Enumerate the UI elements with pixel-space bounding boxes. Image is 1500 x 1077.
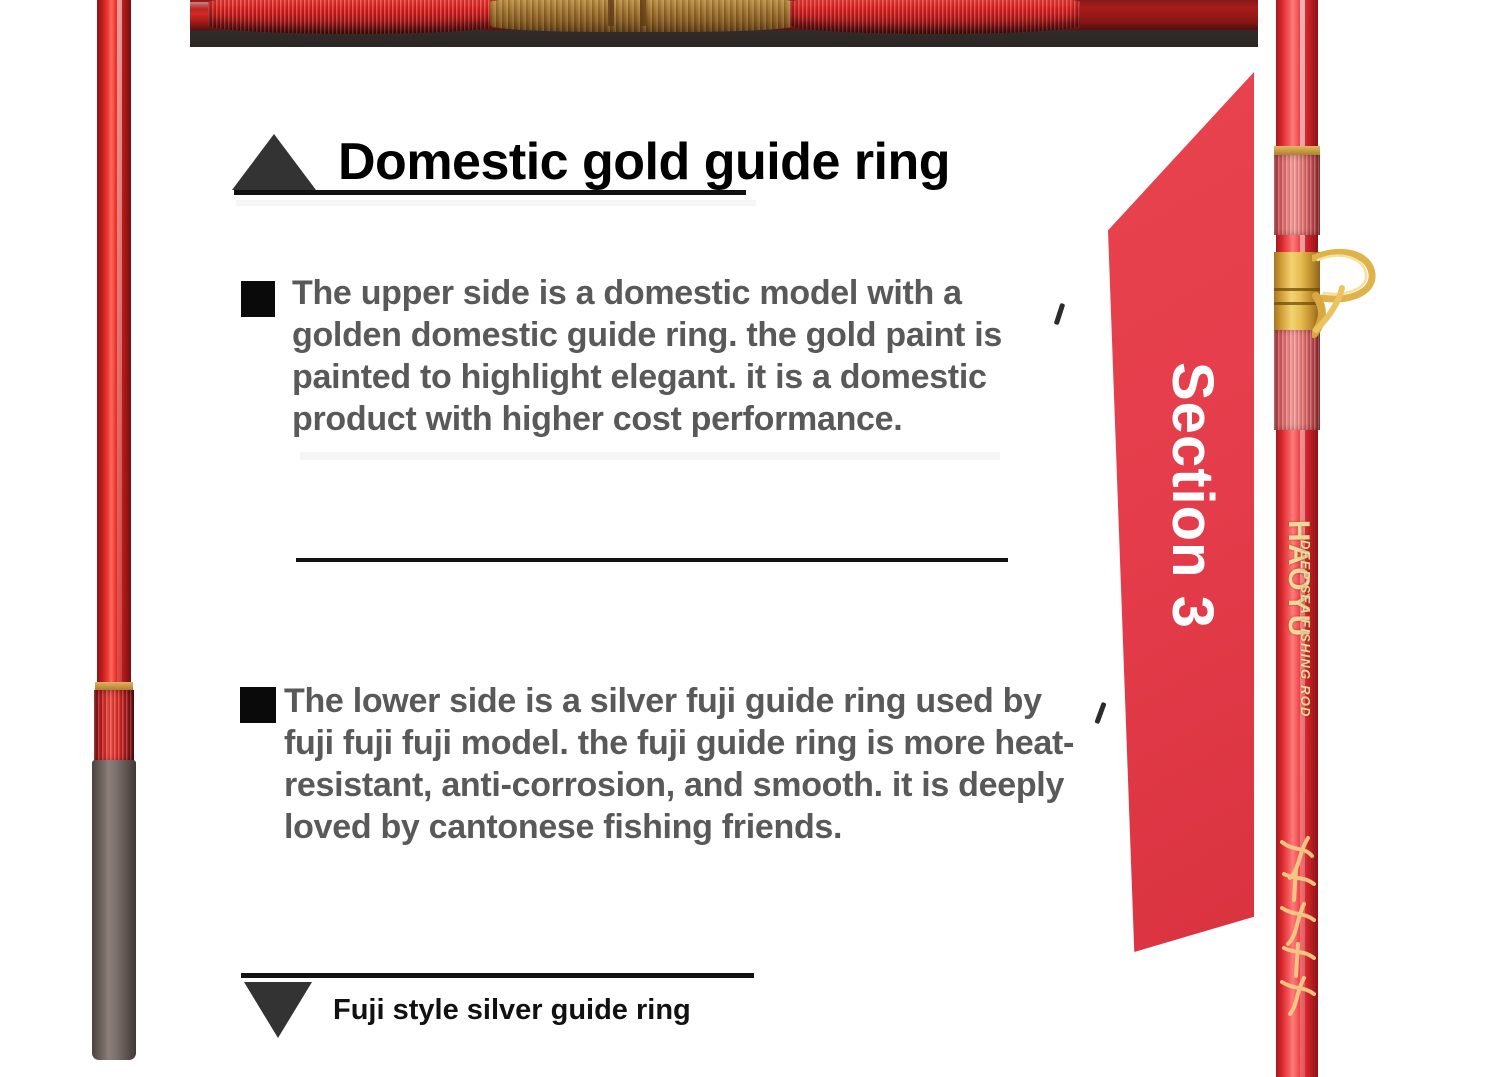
paragraph-fuji: The lower side is a silver fuji guide ri… xyxy=(284,680,1084,848)
paragraph-domestic: The upper side is a domestic model with … xyxy=(292,272,1052,440)
rod-calligraphy-icon xyxy=(1274,830,1320,1020)
title-row: Domestic gold guide ring xyxy=(232,132,950,192)
square-bullet-icon xyxy=(241,281,275,317)
square-bullet-icon xyxy=(240,687,276,723)
right-fishing-rod: HAOYU DEEP SEA FISHING ROD xyxy=(1268,0,1328,1077)
caption-row: Fuji style silver guide ring xyxy=(244,982,691,1038)
caption-divider xyxy=(241,973,754,978)
annotation-tick-2 xyxy=(1094,702,1106,724)
triangle-down-icon xyxy=(244,982,312,1038)
rod-tagline-text: DEEP SEA FISHING ROD xyxy=(1298,540,1313,718)
right-rod-thread-wrap-lower xyxy=(1274,330,1320,430)
section-divider xyxy=(296,558,1008,562)
triangle-up-icon xyxy=(232,134,316,190)
infographic-page: Section 3 HAOYU DEEP SEA FISHING ROD xyxy=(0,0,1500,1077)
composite-artifact-1 xyxy=(300,452,1000,460)
section-banner-label: Section 3 xyxy=(1141,362,1221,629)
section-banner: Section 3 xyxy=(1108,72,1254,952)
content-column: Domestic gold guide ring The upper side … xyxy=(0,0,1110,1077)
footer-caption: Fuji style silver guide ring xyxy=(333,994,691,1027)
guide-ring-frame-icon xyxy=(1312,240,1380,340)
annotation-tick-1 xyxy=(1054,303,1066,325)
page-title: Domestic gold guide ring xyxy=(338,132,950,192)
composite-artifact-2 xyxy=(236,200,756,206)
right-rod-thread-wrap-upper xyxy=(1274,155,1320,235)
title-underline xyxy=(234,190,746,195)
